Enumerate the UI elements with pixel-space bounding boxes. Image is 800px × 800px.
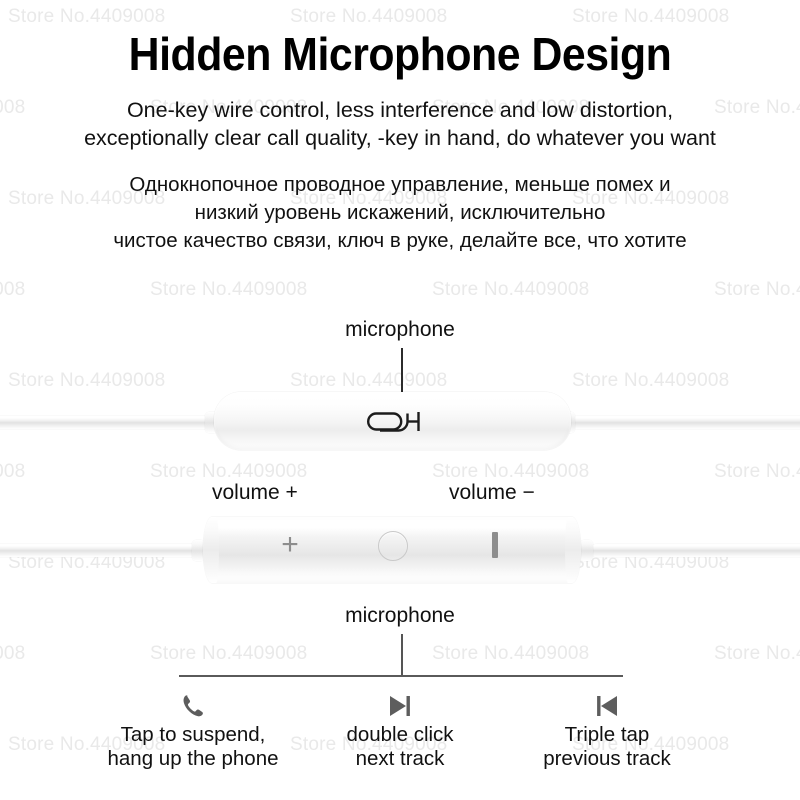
phone-handset-icon <box>90 690 296 722</box>
page-title: Hidden Microphone Design <box>28 28 772 80</box>
feature-item-suspend-call: Tap to suspend, hang up the phone <box>90 690 296 771</box>
watermark-text: Store No.4409008 <box>290 6 447 28</box>
subtitle-russian: Однокнопочное проводное управление, мень… <box>0 171 800 255</box>
next-track-icon <box>297 690 503 722</box>
subtitle-en-line-2: exceptionally clear call quality, -key i… <box>0 124 800 152</box>
subtitle-english: One-key wire control, less interference … <box>0 96 800 152</box>
label-volume-down: volume − <box>449 481 535 505</box>
watermark-text: Store No.4409008 <box>432 279 589 301</box>
cable-left-lower <box>0 544 210 557</box>
microphone-icon <box>366 406 428 436</box>
feature-item-next-track: double click next track <box>297 690 503 771</box>
product-infographic: Store No.4409008Store No.4409008Store No… <box>0 0 800 800</box>
feature-caption-next-track: double click next track <box>297 723 503 771</box>
cable-collar-right-lower <box>580 540 593 561</box>
watermark-text: Store No.4409008 <box>714 643 800 665</box>
remote-capsule-body <box>214 392 571 450</box>
feature-caption-line-1: double click <box>297 723 503 747</box>
label-volume-up: volume + <box>212 481 298 505</box>
callout-leader-line-bottom <box>401 634 403 676</box>
callout-label-microphone-top: microphone <box>0 318 800 342</box>
subtitle-ru-line-2: низкий уровень искажений, исключительно <box>0 199 800 227</box>
cable-right <box>570 416 800 429</box>
feature-caption-line-2: previous track <box>504 747 710 771</box>
feature-caption-line-2: next track <box>297 747 503 771</box>
remote-bar-end-right <box>565 517 581 583</box>
watermark-text: Store No.4409008 <box>0 643 25 665</box>
feature-caption-line-2: hang up the phone <box>90 747 296 771</box>
subtitle-en-line-1: One-key wire control, less interference … <box>0 96 800 124</box>
volume-down-button[interactable] <box>492 532 498 558</box>
remote-bar-end-left <box>203 517 219 583</box>
feature-item-previous-track: Triple tap previous track <box>504 690 710 771</box>
divider-line <box>179 675 623 677</box>
earphone-remote-capsule <box>0 380 800 465</box>
callout-label-microphone-bottom: microphone <box>0 604 800 628</box>
feature-caption-line-1: Triple tap <box>504 723 710 747</box>
feature-caption-previous-track: Triple tap previous track <box>504 723 710 771</box>
watermark-text: Store No.4409008 <box>0 279 25 301</box>
watermark-text: Store No.4409008 <box>150 279 307 301</box>
feature-list: Tap to suspend, hang up the phone double… <box>90 690 710 771</box>
watermark-text: Store No.4409008 <box>714 279 800 301</box>
cable-left <box>0 416 230 429</box>
volume-up-button[interactable]: + <box>276 531 304 559</box>
watermark-text: Store No.4409008 <box>150 643 307 665</box>
feature-caption-suspend-call: Tap to suspend, hang up the phone <box>90 723 296 771</box>
previous-track-icon <box>504 690 710 722</box>
cable-right-lower <box>590 544 800 557</box>
watermark-text: Store No.4409008 <box>432 643 589 665</box>
watermark-text: Store No.4409008 <box>8 6 165 28</box>
watermark-text: Store No.4409008 <box>572 6 729 28</box>
feature-caption-line-1: Tap to suspend, <box>90 723 296 747</box>
subtitle-ru-line-3: чистое качество связи, ключ в руке, дела… <box>0 227 800 255</box>
subtitle-ru-line-1: Однокнопочное проводное управление, мень… <box>0 171 800 199</box>
center-multifunction-button[interactable] <box>378 531 408 561</box>
